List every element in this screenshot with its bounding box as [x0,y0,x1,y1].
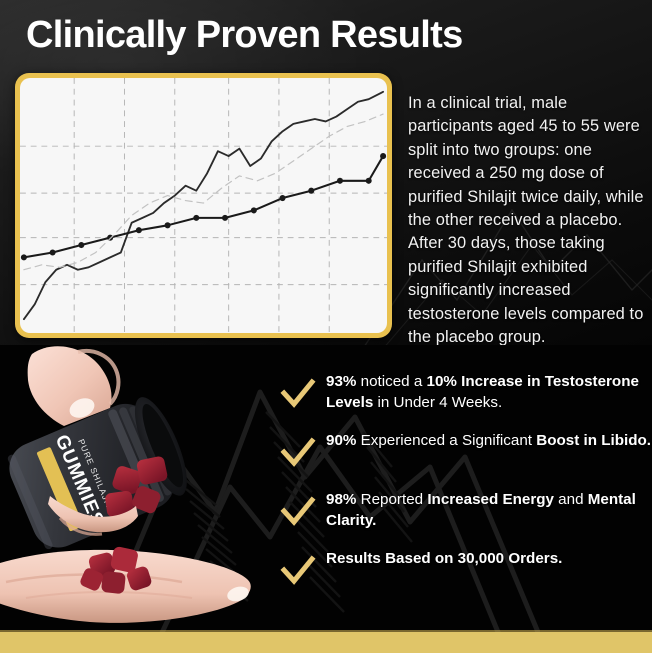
benefit-text: Results Based on 30,000 Orders. [318,549,562,570]
benefit-item: 98% Reported Increased Energy and Mental… [278,490,652,532]
benefit-text: 93% noticed a 10% Increase in Testostero… [318,372,652,413]
check-icon [278,492,318,532]
product-photo: PURE SHILAJIT GUMMIES [0,346,286,631]
benefit-item: 90% Experienced a Significant Boost in L… [278,431,652,473]
chart-card [15,73,392,338]
chart-plot-area [20,78,387,333]
check-icon [278,433,318,473]
benefit-text: 98% Reported Increased Energy and Mental… [318,490,652,531]
promo-infographic: Clinically Proven Results In a clinical … [0,0,652,653]
benefit-item: Results Based on 30,000 Orders. [278,549,652,591]
benefit-text: 90% Experienced a Significant Boost in L… [318,431,651,452]
line-chart [20,78,387,333]
benefits-list: 93% noticed a 10% Increase in Testostero… [278,372,652,608]
bottom-gold-strip [0,632,652,653]
benefit-item: 93% noticed a 10% Increase in Testostero… [278,372,652,414]
chart-series-markers [21,153,386,260]
page-title: Clinically Proven Results [26,12,463,58]
chart-gridlines [20,78,387,333]
clinical-trial-paragraph: In a clinical trial, male participants a… [408,92,644,349]
check-icon [278,374,318,414]
check-icon [278,551,318,591]
